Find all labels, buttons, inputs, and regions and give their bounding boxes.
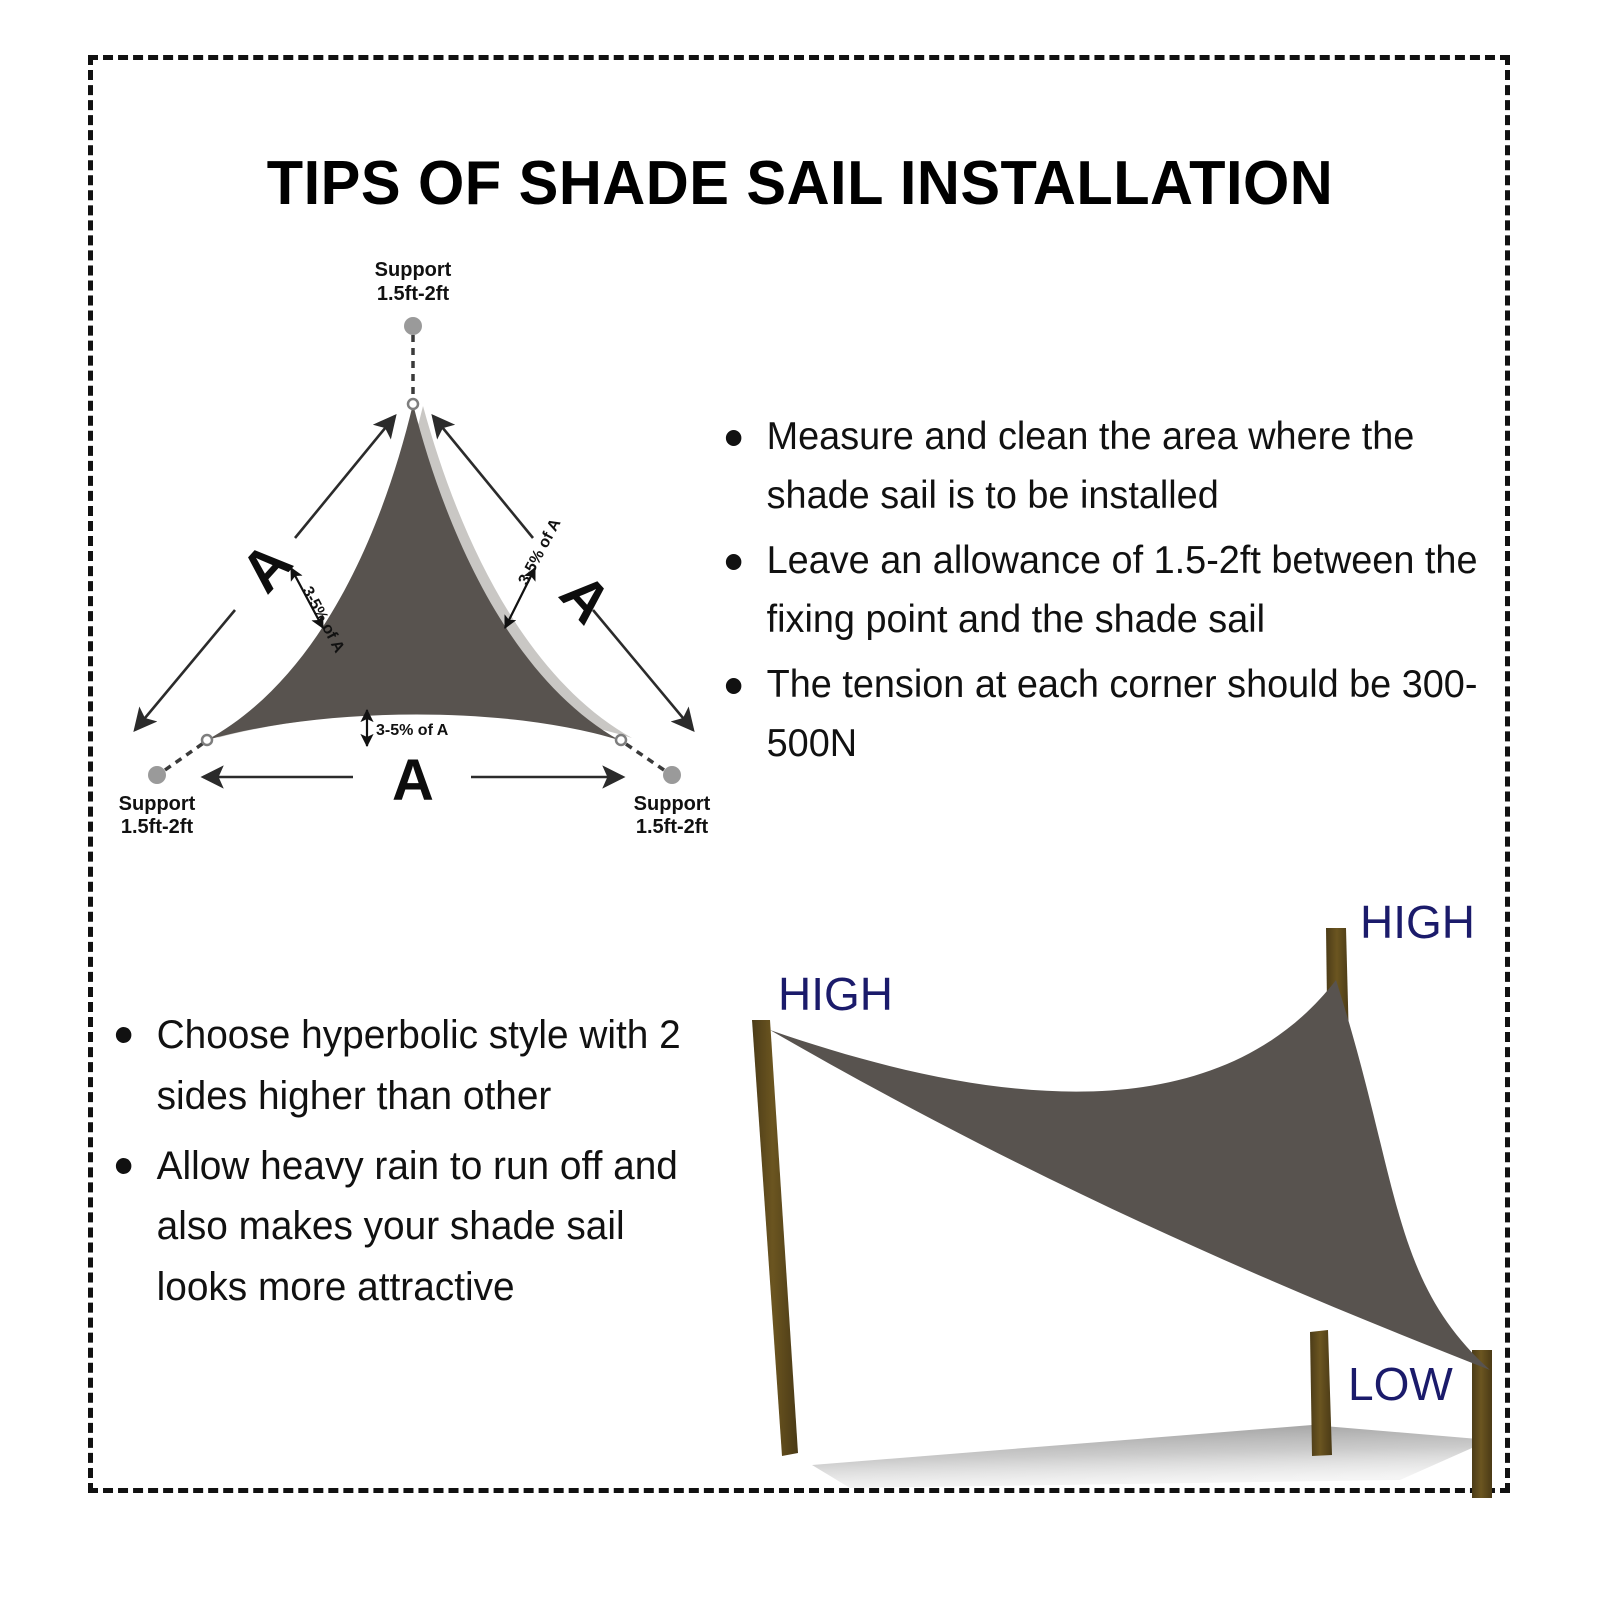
corner-grommet-bottom-right: [616, 735, 626, 745]
support-top-group: Support 1.5ft-2ft: [375, 259, 452, 409]
sail-fabric-shape: [770, 980, 1490, 1370]
list-item: Allow heavy rain to run off and also mak…: [112, 1136, 694, 1318]
bullet-dot-icon: [726, 430, 742, 446]
list-item: The tension at each corner should be 300…: [722, 656, 1488, 773]
list-item: Measure and clean the area where the sha…: [722, 408, 1488, 525]
pole-low-right: [1472, 1350, 1492, 1498]
side-label-right: A: [547, 561, 623, 636]
list-item-text: The tension at each corner should be 300…: [767, 663, 1478, 765]
list-item-text: Choose hyperbolic style with 2 sides hig…: [157, 1013, 681, 1118]
support-bottom-left-label-line2: 1.5ft-2ft: [121, 816, 194, 838]
anchor-dot-top: [404, 317, 422, 335]
list-item: Leave an allowance of 1.5-2ft between th…: [722, 532, 1488, 649]
dimension-arrow-bottom-side: A: [203, 748, 623, 813]
list-item-text: Allow heavy rain to run off and also mak…: [157, 1144, 678, 1310]
label-low: LOW: [1348, 1358, 1453, 1410]
triangle-sail-diagram: Support 1.5ft-2ft Support 1.5ft-2ft Supp…: [95, 238, 735, 838]
curve-label-bottom: 3-5% of A: [376, 722, 449, 739]
ground-shadow: [812, 1425, 1490, 1488]
pole-high-left: [752, 1020, 798, 1456]
support-line-bottom-right: [623, 742, 664, 770]
installation-tips-list: Measure and clean the area where the sha…: [722, 408, 1512, 780]
bullet-dot-icon: [726, 678, 742, 694]
anchor-dot-bottom-right: [663, 766, 681, 784]
list-item: Choose hyperbolic style with 2 sides hig…: [112, 1005, 694, 1127]
curvature-callout-bottom: 3-5% of A: [367, 710, 449, 746]
list-item-text: Leave an allowance of 1.5-2ft between th…: [767, 539, 1478, 641]
support-bottom-right-label-line1: Support: [634, 793, 711, 815]
side-label-left: A: [228, 530, 304, 605]
hyperbolic-style-tips-list: Choose hyperbolic style with 2 sides hig…: [112, 1005, 712, 1327]
infographic-poster: TIPS OF SHADE SAIL INSTALLATION: [0, 0, 1600, 1600]
hyperbolic-sail-illustration: HIGH HIGH LOW: [700, 880, 1510, 1500]
bullet-dot-icon: [116, 1027, 132, 1043]
page-title: TIPS OF SHADE SAIL INSTALLATION: [32, 148, 1568, 219]
side-label-bottom: A: [392, 748, 434, 813]
corner-grommet-bottom-left: [202, 735, 212, 745]
label-high-left: HIGH: [778, 968, 893, 1020]
support-bottom-left-group: Support 1.5ft-2ft: [119, 735, 212, 838]
anchor-dot-bottom-left: [148, 766, 166, 784]
support-line-bottom-left: [165, 742, 205, 770]
support-bottom-left-label-line1: Support: [119, 793, 196, 815]
bullet-dot-icon: [726, 554, 742, 570]
support-top-label-line1: Support: [375, 259, 452, 281]
bullet-dot-icon: [116, 1158, 132, 1174]
support-top-label-line2: 1.5ft-2ft: [377, 283, 450, 305]
corner-grommet-top: [408, 399, 418, 409]
pole-mid-back: [1310, 1330, 1332, 1456]
list-item-text: Measure and clean the area where the sha…: [767, 415, 1415, 517]
label-high-right: HIGH: [1360, 896, 1475, 948]
support-bottom-right-label-line2: 1.5ft-2ft: [636, 816, 709, 838]
support-bottom-right-group: Support 1.5ft-2ft: [616, 735, 711, 838]
